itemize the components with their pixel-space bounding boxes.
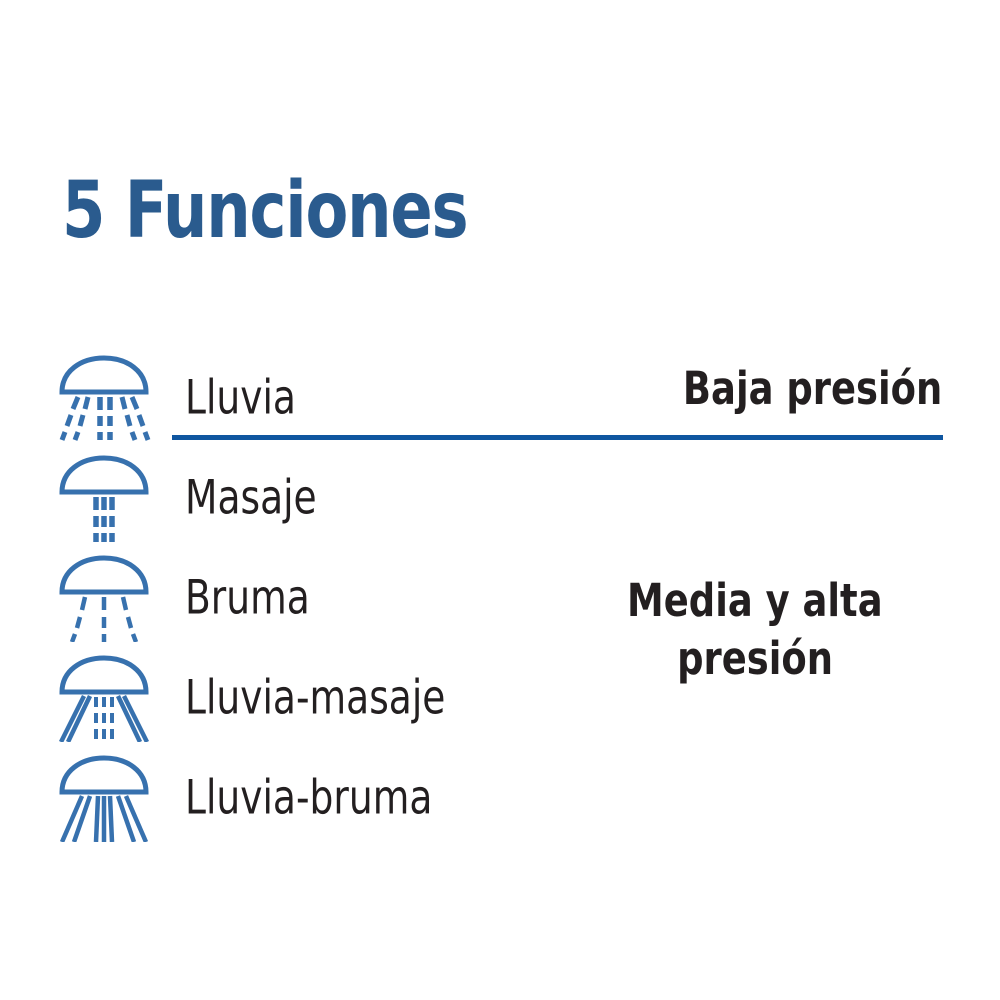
pressure-high-line-2: presión	[560, 630, 950, 688]
function-label: Lluvia	[185, 373, 324, 422]
table-row: Lluvia-bruma	[0, 748, 1000, 848]
pressure-low-label: Baja presión	[522, 365, 942, 414]
function-label: Bruma	[185, 573, 341, 622]
pressure-high-label: Media y alta presión	[560, 572, 950, 687]
shower-rain-massage-icon	[52, 652, 156, 744]
infographic-page: 5 Funciones	[0, 0, 1000, 1000]
shower-massage-icon	[52, 452, 156, 544]
shower-rain-mist-icon	[52, 752, 156, 844]
shower-mist-icon	[52, 552, 156, 644]
function-label: Masaje	[185, 473, 350, 522]
pressure-high-line-1: Media y alta	[560, 572, 950, 630]
page-title: 5 Funciones	[62, 172, 467, 250]
function-label: Lluvia-masaje	[185, 673, 511, 722]
divider-rule	[172, 435, 943, 440]
shower-rain-icon	[52, 352, 156, 444]
function-label: Lluvia-bruma	[185, 773, 494, 822]
table-row: Masaje	[0, 448, 1000, 548]
